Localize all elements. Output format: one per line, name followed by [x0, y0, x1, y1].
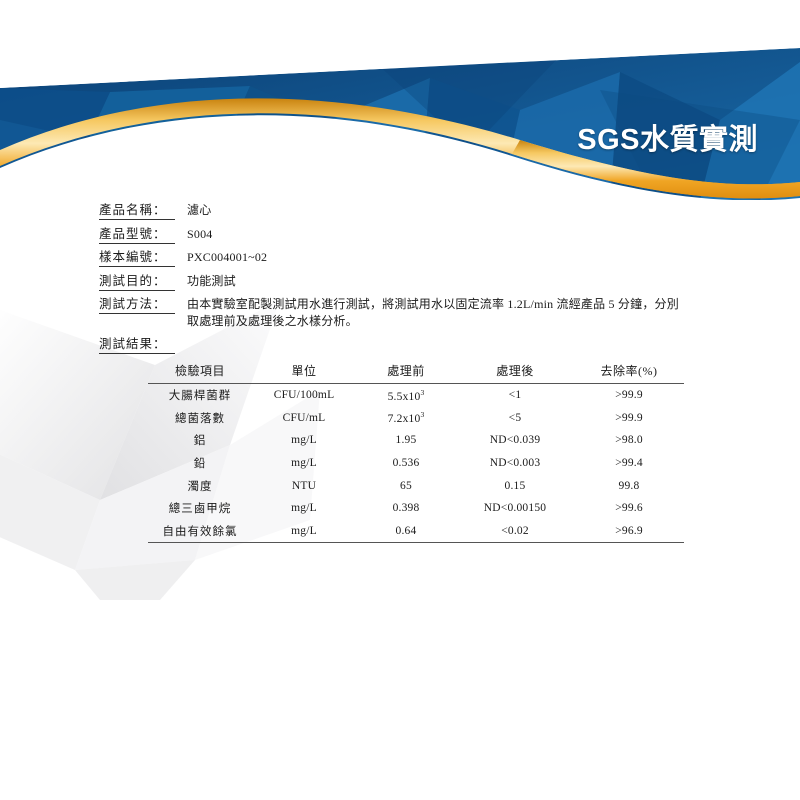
info-value-method: 由本實驗室配製測試用水進行測試，將測試用水以固定流率 1.2L/min 流經產品…: [187, 296, 719, 329]
cell-unit: mg/L: [252, 520, 356, 543]
info-label: 測試目的：: [99, 273, 175, 291]
table-row: 大腸桿菌群CFU/100mL5.5x103<1>99.9: [148, 384, 684, 407]
cell-unit: mg/L: [252, 497, 356, 520]
cell-after: ND<0.003: [456, 452, 574, 475]
cell-item: 鉛: [148, 452, 252, 475]
cell-after: 0.15: [456, 474, 574, 497]
cell-before: 5.5x103: [356, 384, 456, 407]
column-header-removal: 去除率(%): [574, 360, 684, 384]
cell-after: <1: [456, 384, 574, 407]
cell-after: <5: [456, 407, 574, 430]
cell-unit: CFU/100mL: [252, 384, 356, 407]
header-banner: SGS水質實測: [0, 0, 800, 200]
table-header-row: 檢驗項目 單位 處理前 處理後 去除率(%): [148, 360, 684, 384]
cell-after: ND<0.039: [456, 429, 574, 452]
info-row-product-model: 產品型號： S004: [99, 226, 719, 244]
info-row-test-method: 測試方法： 由本實驗室配製測試用水進行測試，將測試用水以固定流率 1.2L/mi…: [99, 296, 719, 329]
cell-before: 65: [356, 474, 456, 497]
cell-before: 0.398: [356, 497, 456, 520]
method-line-1: 由本實驗室配製測試用水進行測試，將測試用水以固定流率 1.2L/min 流經產品…: [187, 297, 679, 311]
cell-removal: >99.6: [574, 497, 684, 520]
column-header-unit: 單位: [252, 360, 356, 384]
cell-before: 7.2x103: [356, 407, 456, 430]
page-title: SGS水質實測: [577, 116, 758, 158]
column-header-item: 檢驗項目: [148, 360, 252, 384]
result-table: 檢驗項目 單位 處理前 處理後 去除率(%) 大腸桿菌群CFU/100mL5.5…: [148, 360, 684, 543]
cell-after: ND<0.00150: [456, 497, 574, 520]
cell-unit: NTU: [252, 474, 356, 497]
cell-removal: >99.9: [574, 384, 684, 407]
method-line-2: 取處理前及處理後之水樣分析。: [187, 313, 719, 330]
cell-item: 自由有效餘氯: [148, 520, 252, 543]
table-row: 總菌落數CFU/mL7.2x103<5>99.9: [148, 407, 684, 430]
cell-item: 總菌落數: [148, 407, 252, 430]
cell-after: <0.02: [456, 520, 574, 543]
info-row-test-purpose: 測試目的： 功能測試: [99, 273, 719, 291]
cell-unit: mg/L: [252, 452, 356, 475]
table-row: 濁度NTU650.1599.8: [148, 474, 684, 497]
cell-removal: 99.8: [574, 474, 684, 497]
cell-removal: >96.9: [574, 520, 684, 543]
info-value: S004: [187, 226, 719, 243]
cell-item: 濁度: [148, 474, 252, 497]
cell-item: 大腸桿菌群: [148, 384, 252, 407]
table-row: 鋁mg/L1.95ND<0.039>98.0: [148, 429, 684, 452]
info-value: 功能測試: [187, 273, 719, 290]
info-value: 濾心: [187, 202, 719, 219]
info-block: 產品名稱： 濾心 產品型號： S004 樣本編號： PXC004001~02 測…: [99, 202, 719, 335]
document-page: SGS水質實測 產品名稱： 濾心 產品型號： S004 樣本編號：: [0, 0, 800, 800]
result-section-label: 測試結果：: [99, 333, 175, 354]
column-header-before: 處理前: [356, 360, 456, 384]
table-row: 自由有效餘氯mg/L0.64<0.02>96.9: [148, 520, 684, 543]
table-row: 鉛mg/L0.536ND<0.003>99.4: [148, 452, 684, 475]
info-row-product-name: 產品名稱： 濾心: [99, 202, 719, 220]
cell-unit: CFU/mL: [252, 407, 356, 430]
cell-item: 鋁: [148, 429, 252, 452]
info-row-sample-number: 樣本編號： PXC004001~02: [99, 249, 719, 267]
info-label: 測試方法：: [99, 296, 175, 314]
cell-removal: >98.0: [574, 429, 684, 452]
cell-unit: mg/L: [252, 429, 356, 452]
column-header-after: 處理後: [456, 360, 574, 384]
info-label: 樣本編號：: [99, 249, 175, 267]
info-label: 產品名稱：: [99, 202, 175, 220]
info-value: PXC004001~02: [187, 249, 719, 266]
cell-item: 總三鹵甲烷: [148, 497, 252, 520]
info-label: 產品型號：: [99, 226, 175, 244]
banner-graphic: [0, 0, 800, 200]
cell-before: 1.95: [356, 429, 456, 452]
cell-removal: >99.4: [574, 452, 684, 475]
table-row: 總三鹵甲烷mg/L0.398ND<0.00150>99.6: [148, 497, 684, 520]
cell-before: 0.536: [356, 452, 456, 475]
cell-removal: >99.9: [574, 407, 684, 430]
cell-before: 0.64: [356, 520, 456, 543]
